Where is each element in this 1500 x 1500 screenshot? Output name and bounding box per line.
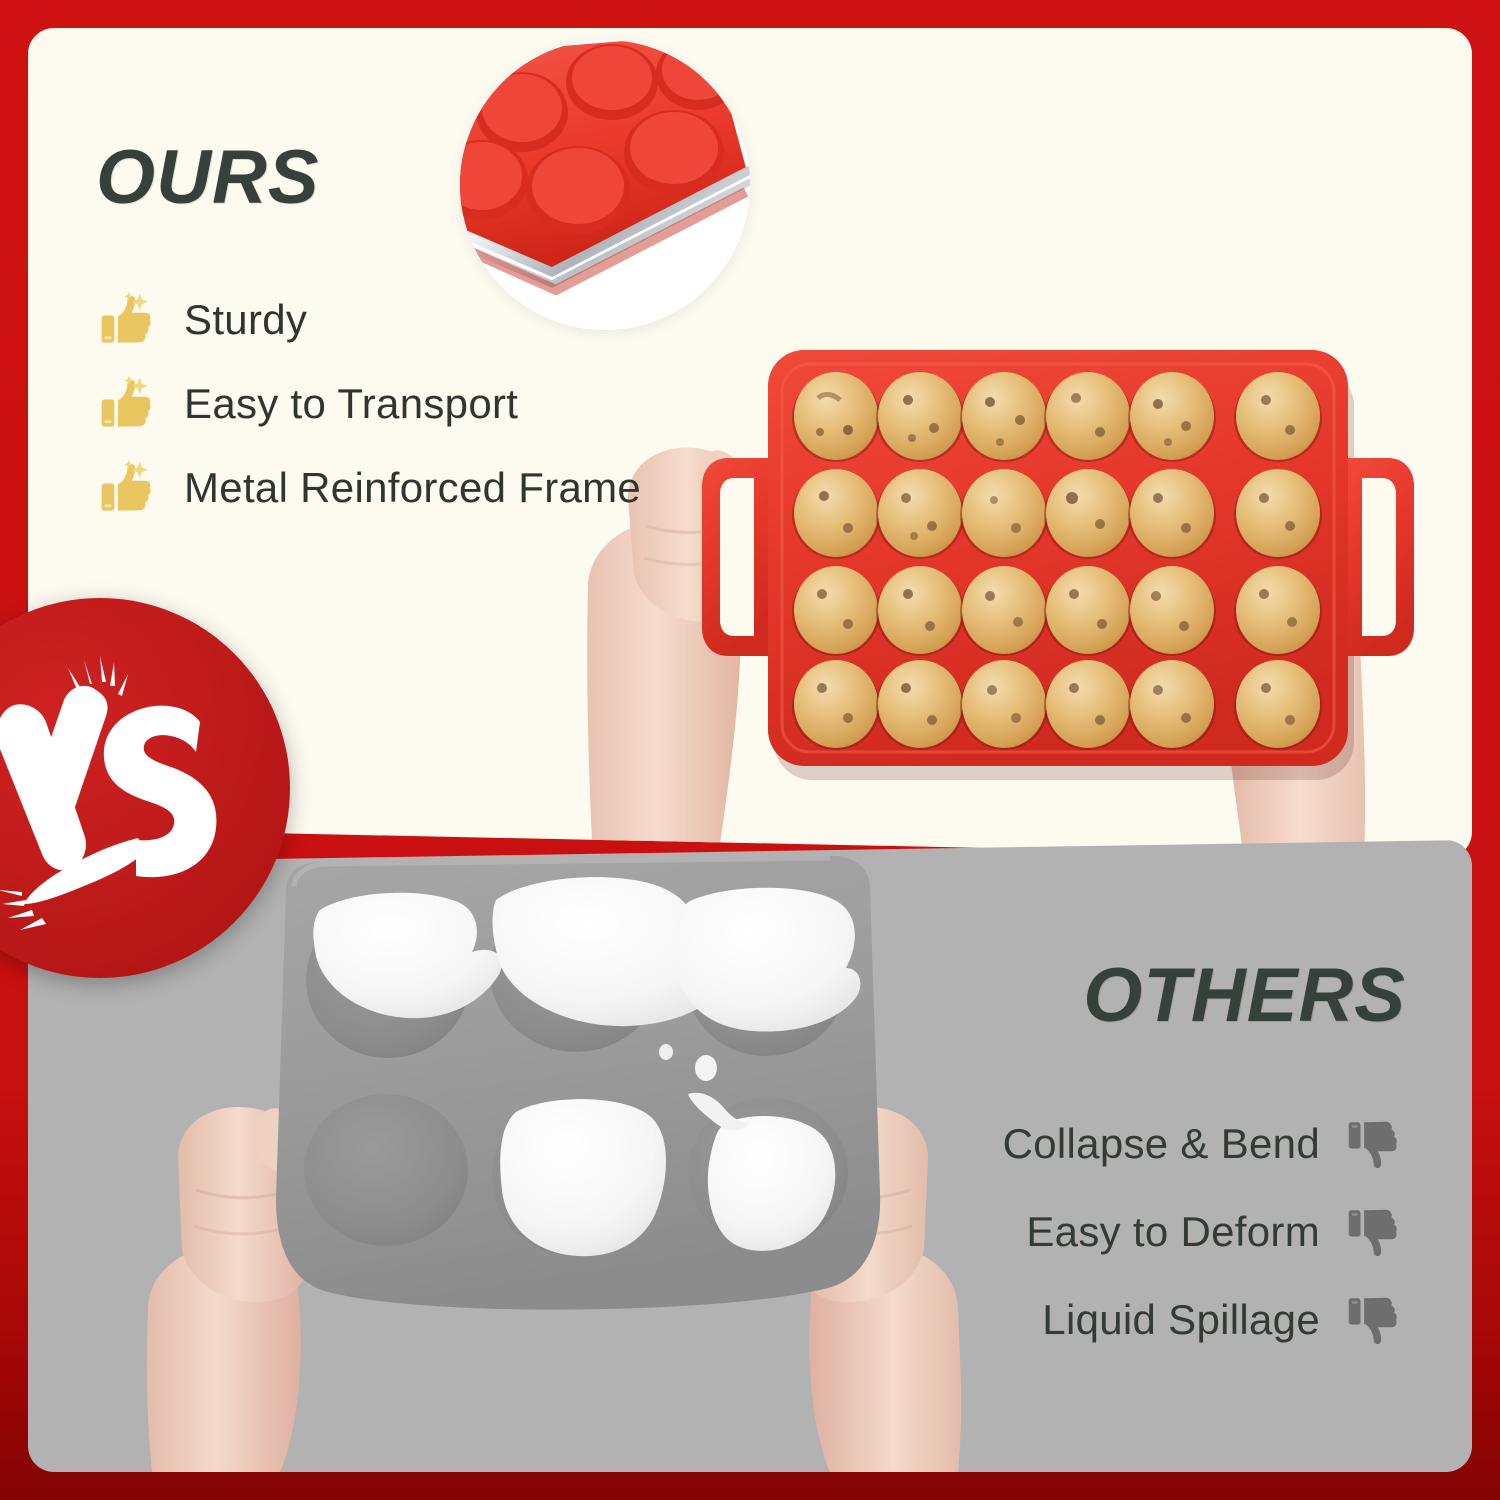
thumbs-up-sparkle-icon bbox=[98, 291, 156, 349]
thumbs-down-icon bbox=[1346, 1115, 1404, 1173]
thumbs-up-sparkle-icon bbox=[98, 375, 156, 433]
feature-row-collapse-and-bend: Collapse & Bend bbox=[1003, 1100, 1404, 1188]
feature-row-easy-to-deform: Easy to Deform bbox=[1003, 1188, 1404, 1276]
feature-label: Easy to Transport bbox=[184, 380, 518, 428]
feature-row-sturdy: Sturdy bbox=[98, 278, 641, 362]
feature-label: Sturdy bbox=[184, 296, 307, 344]
thumbs-down-icon bbox=[1346, 1291, 1404, 1349]
thumbs-up-sparkle-icon bbox=[98, 459, 156, 517]
others-title: OTHERS bbox=[1083, 958, 1406, 1034]
others-feature-list: Collapse & Bend Easy to Deform Liqui bbox=[1003, 1100, 1404, 1364]
feature-label: Collapse & Bend bbox=[1003, 1120, 1320, 1168]
feature-row-liquid-spillage: Liquid Spillage bbox=[1003, 1276, 1404, 1364]
feature-row-easy-to-transport: Easy to Transport bbox=[98, 362, 641, 446]
feature-label: Liquid Spillage bbox=[1042, 1296, 1320, 1344]
ours-title: OURS bbox=[96, 140, 320, 216]
feature-label: Easy to Deform bbox=[1026, 1208, 1320, 1256]
thumbs-down-icon bbox=[1346, 1203, 1404, 1261]
vs-badge bbox=[0, 598, 290, 978]
feature-row-metal-reinforced-frame: Metal Reinforced Frame bbox=[98, 446, 641, 530]
ours-feature-list: Sturdy Easy to Transport bbox=[98, 278, 641, 530]
feature-label: Metal Reinforced Frame bbox=[184, 464, 641, 512]
